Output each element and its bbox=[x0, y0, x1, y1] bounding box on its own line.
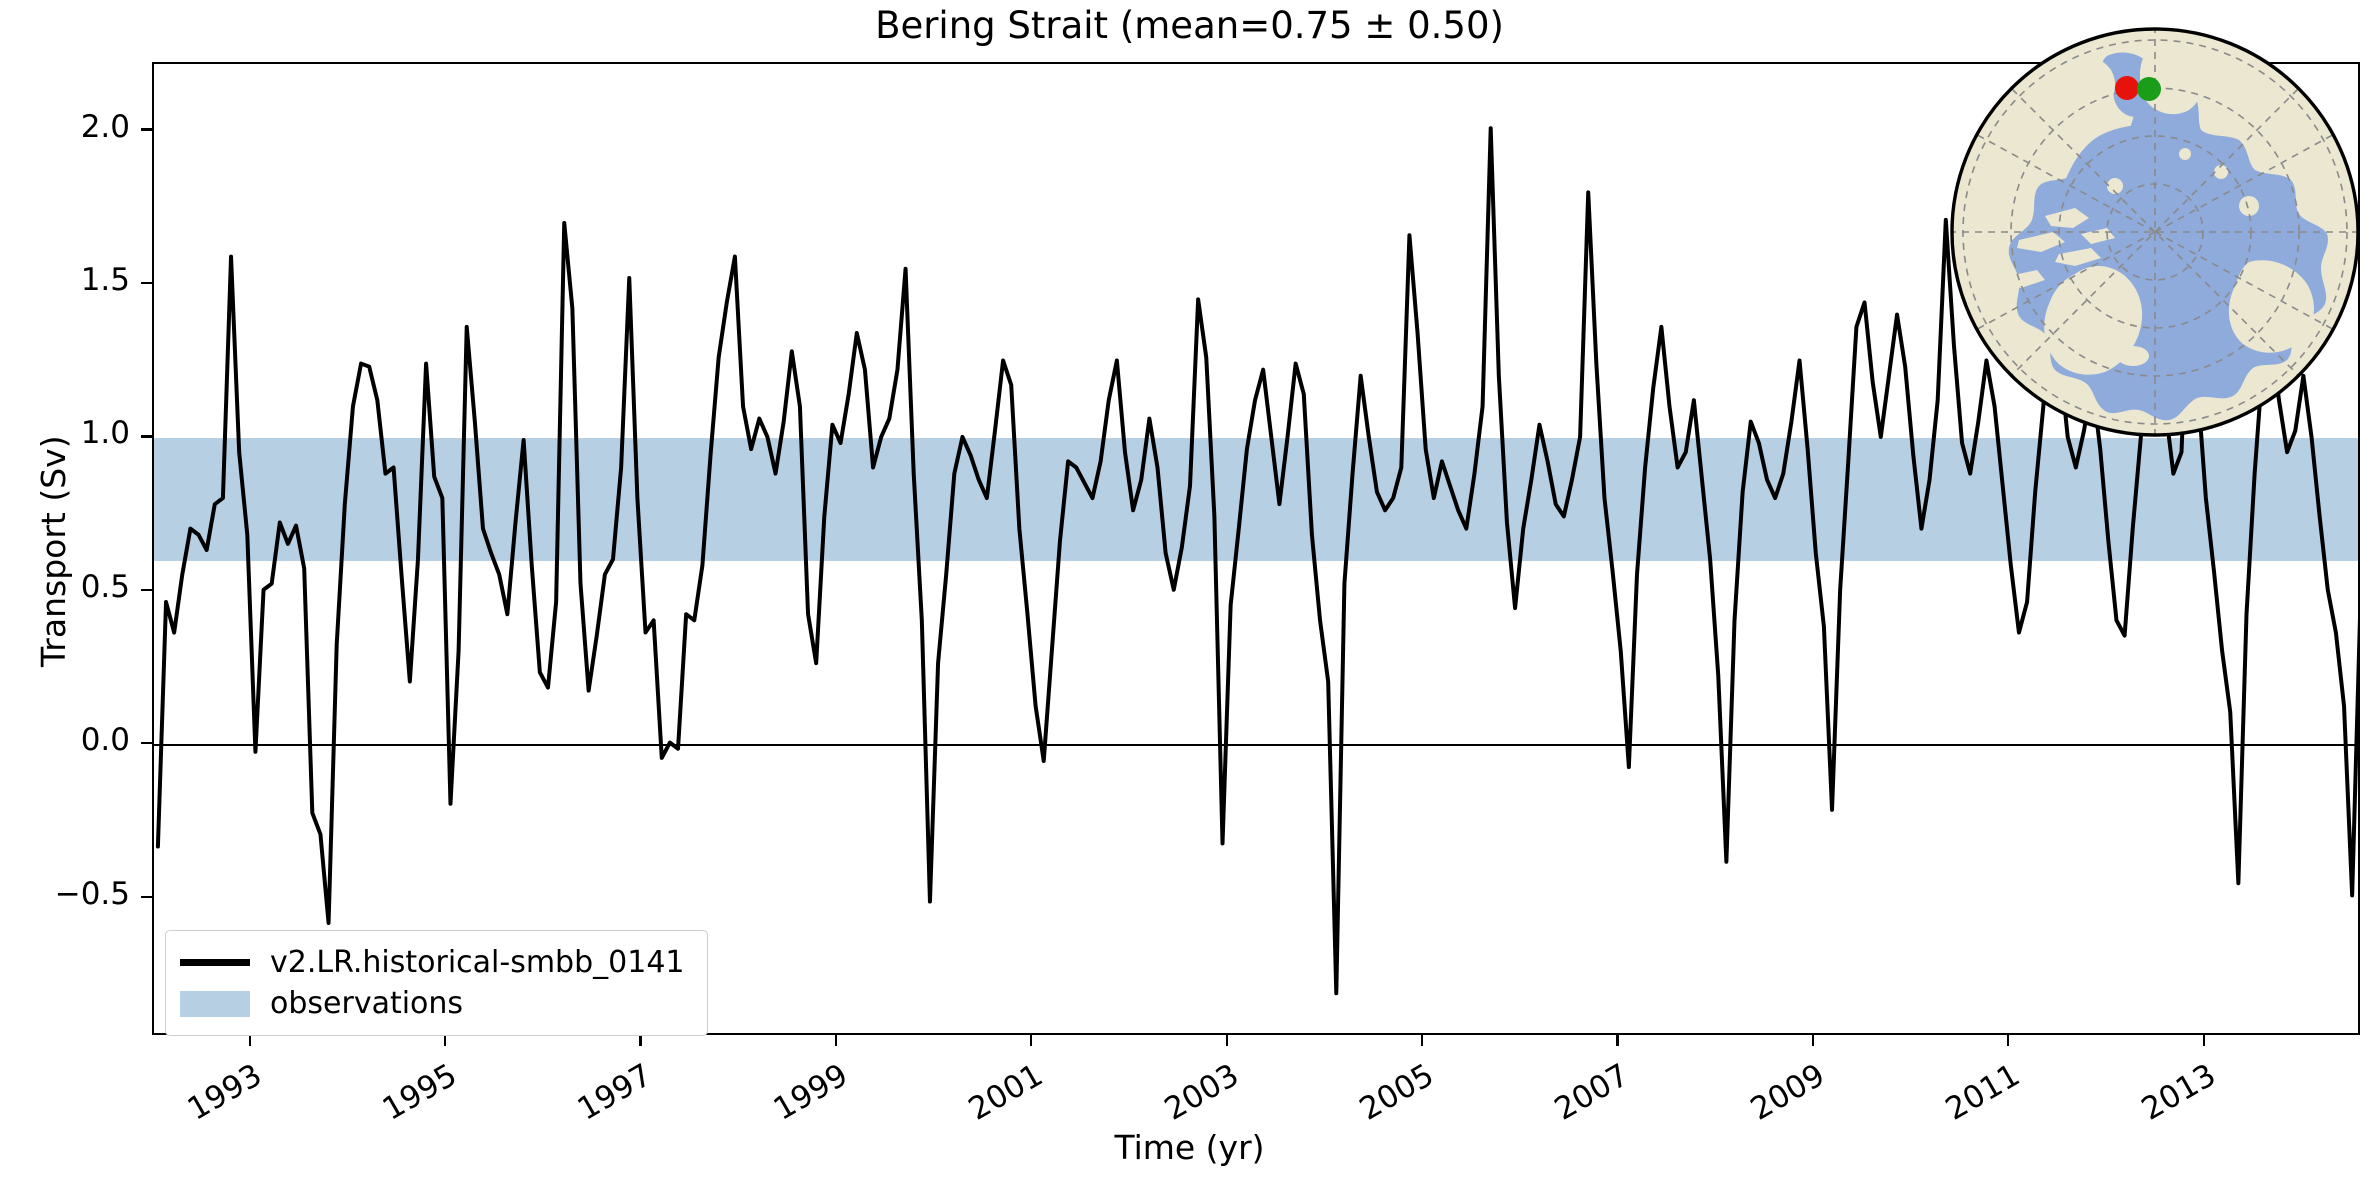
y-tick-mark bbox=[141, 435, 152, 437]
x-tick-mark bbox=[1030, 1035, 1032, 1046]
x-tick-mark bbox=[444, 1035, 446, 1046]
x-tick-label: 2001 bbox=[948, 1057, 1049, 1136]
x-tick-label: 1997 bbox=[557, 1057, 658, 1136]
x-tick-mark bbox=[1616, 1035, 1618, 1046]
x-tick-label: 1993 bbox=[167, 1057, 268, 1136]
x-axis-label: Time (yr) bbox=[0, 1128, 2379, 1167]
y-tick-label: 0.0 bbox=[81, 722, 130, 758]
x-tick-label: 2013 bbox=[2121, 1057, 2222, 1136]
y-tick-label: 1.5 bbox=[81, 262, 130, 298]
x-tick-label: 1995 bbox=[362, 1057, 463, 1136]
x-tick-mark bbox=[639, 1035, 641, 1046]
legend-label-model: v2.LR.historical-smbb_0141 bbox=[270, 945, 685, 980]
y-tick-mark bbox=[141, 742, 152, 744]
x-tick-label: 2003 bbox=[1144, 1057, 1245, 1136]
y-tick-label: 2.0 bbox=[81, 109, 130, 145]
figure-canvas: Bering Strait (mean=0.75 ± 0.50) Transpo… bbox=[0, 0, 2379, 1180]
x-tick-label: 1999 bbox=[753, 1057, 854, 1136]
y-tick-label: 0.5 bbox=[81, 569, 130, 605]
x-tick-label: 2011 bbox=[1925, 1057, 2026, 1136]
x-tick-mark bbox=[1421, 1035, 1423, 1046]
x-tick-mark bbox=[2203, 1035, 2205, 1046]
x-tick-mark bbox=[835, 1035, 837, 1046]
svalbard-island bbox=[2239, 196, 2259, 216]
arctic-polar-inset-map bbox=[1949, 26, 2361, 438]
legend-item-model[interactable]: v2.LR.historical-smbb_0141 bbox=[180, 942, 685, 983]
x-tick-label: 2005 bbox=[1339, 1057, 1440, 1136]
y-tick-mark bbox=[141, 896, 152, 898]
y-tick-mark bbox=[141, 589, 152, 591]
legend[interactable]: v2.LR.historical-smbb_0141 observations bbox=[165, 930, 708, 1036]
inset-map-svg bbox=[1949, 26, 2361, 438]
legend-item-observations[interactable]: observations bbox=[180, 983, 685, 1024]
y-tick-label: 1.0 bbox=[81, 415, 130, 451]
legend-line-swatch bbox=[180, 959, 250, 966]
x-tick-mark bbox=[1226, 1035, 1228, 1046]
y-tick-mark bbox=[141, 128, 152, 130]
severnaya-island bbox=[2179, 148, 2191, 160]
legend-label-observations: observations bbox=[270, 986, 463, 1021]
iceland bbox=[2117, 346, 2149, 366]
x-tick-label: 2007 bbox=[1534, 1057, 1635, 1136]
x-tick-mark bbox=[2007, 1035, 2009, 1046]
legend-patch-swatch bbox=[180, 991, 250, 1017]
x-tick-mark bbox=[1812, 1035, 1814, 1046]
transect-marker-red-icon bbox=[2115, 76, 2139, 100]
y-tick-label: −0.5 bbox=[55, 876, 130, 912]
y-axis-label: Transport (Sv) bbox=[34, 435, 73, 667]
y-tick-mark bbox=[141, 282, 152, 284]
transect-marker-green-icon bbox=[2137, 77, 2161, 101]
x-tick-mark bbox=[249, 1035, 251, 1046]
x-tick-label: 2009 bbox=[1730, 1057, 1831, 1136]
